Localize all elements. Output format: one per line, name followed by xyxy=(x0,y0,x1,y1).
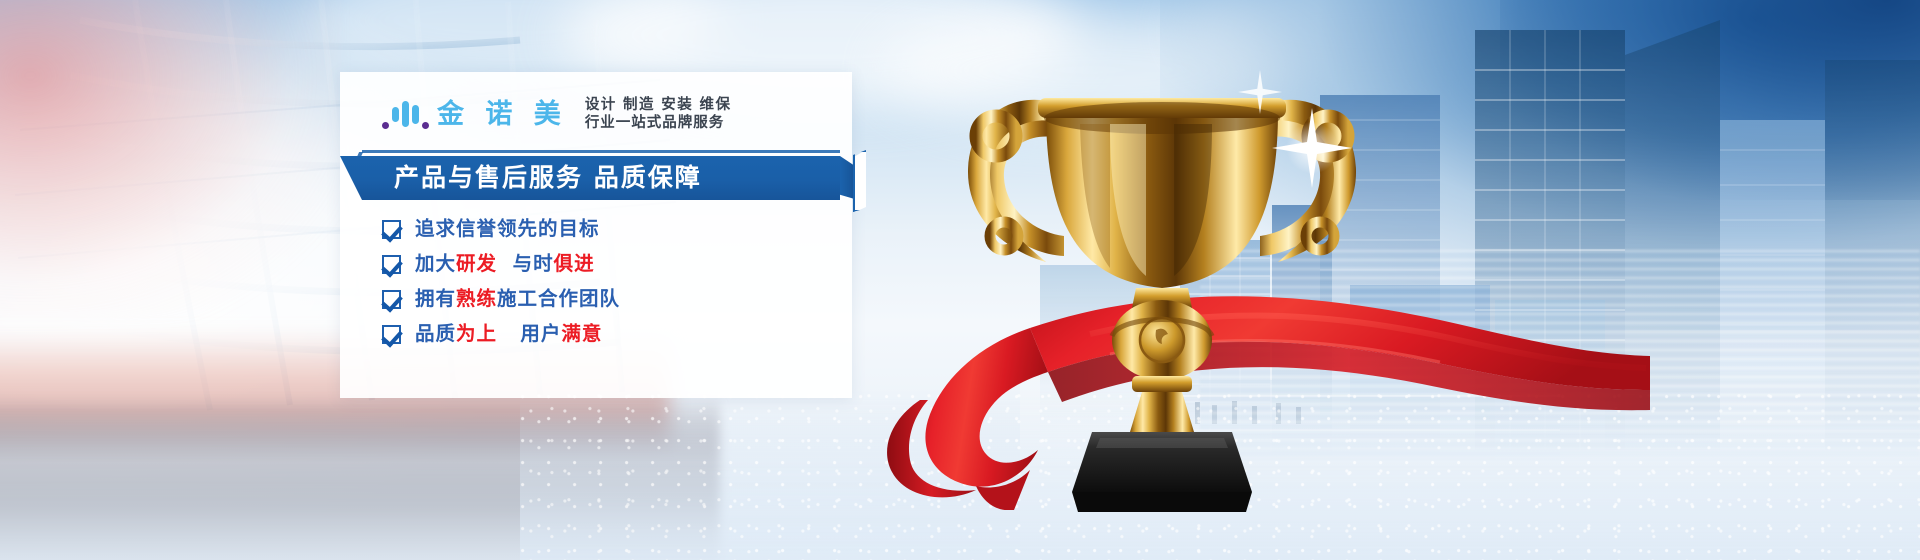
sound-wave-logo-icon xyxy=(382,97,429,131)
logo-dot-right xyxy=(422,122,429,129)
feature-text: 拥有熟练施工合作团队 xyxy=(415,289,620,309)
feature-text-segment: 加大 xyxy=(415,252,456,275)
logo-dot-left xyxy=(382,122,389,129)
brand-logo-row: 金 诺 美 设计 制造 安装 维保 行业一站式品牌服务 xyxy=(382,96,731,132)
headline-banner: 产品与售后服务 品质保障 xyxy=(340,156,840,200)
feature-text-segment: 与时 xyxy=(497,252,554,275)
feature-text-segment: 俱进 xyxy=(554,252,595,275)
checkbox-checked-icon xyxy=(382,220,401,239)
logo-bar-2 xyxy=(402,101,409,127)
list-item: 品质为上 用户满意 xyxy=(382,317,812,351)
banner-fold-outline xyxy=(853,150,866,212)
feature-list: 追求信誉领先的目标 加大研发 与时俱进 拥有熟练施工合作团队 品质为上 用户满意 xyxy=(382,212,812,352)
banner-stage: 金 诺 美 设计 制造 安装 维保 行业一站式品牌服务 追求信誉领先的目标 加大… xyxy=(0,0,1920,560)
brand-slogan-line-2: 行业一站式品牌服务 xyxy=(585,114,732,132)
banner-fold-tail xyxy=(840,150,866,212)
feature-text-segment: 满意 xyxy=(561,322,602,345)
feature-text-segment: 施工合作团队 xyxy=(497,287,620,310)
page-title: 产品与售后服务 品质保障 xyxy=(394,156,702,200)
feature-text-segment: 拥有 xyxy=(415,287,456,310)
feature-text: 品质为上 用户满意 xyxy=(415,324,602,344)
logo-bar-3 xyxy=(412,105,419,124)
list-item: 追求信誉领先的目标 xyxy=(382,212,812,246)
checkbox-checked-icon xyxy=(382,290,401,309)
feature-text-segment: 研发 xyxy=(456,252,497,275)
gold-trophy-icon xyxy=(960,40,1480,520)
checkbox-checked-icon xyxy=(382,255,401,274)
banner-top-hairline xyxy=(362,150,840,153)
feature-text-segment: 熟练 xyxy=(456,287,497,310)
feature-text: 加大研发 与时俱进 xyxy=(415,254,595,274)
feature-text-segment: 为上 xyxy=(456,322,497,345)
feature-text-segment: 追求信誉领先的目标 xyxy=(415,217,600,240)
checkbox-checked-icon xyxy=(382,325,401,344)
feature-text: 追求信誉领先的目标 xyxy=(415,219,600,239)
content-card: 金 诺 美 设计 制造 安装 维保 行业一站式品牌服务 追求信誉领先的目标 加大… xyxy=(340,72,852,398)
warm-tint-overlay xyxy=(0,0,340,320)
brand-slogan: 设计 制造 安装 维保 行业一站式品牌服务 xyxy=(585,96,732,132)
feature-text-segment: 品质 xyxy=(415,322,456,345)
brand-slogan-line-1: 设计 制造 安装 维保 xyxy=(585,96,732,114)
logo-bar-1 xyxy=(392,107,399,122)
list-item: 加大研发 与时俱进 xyxy=(382,247,812,281)
brand-name: 金 诺 美 xyxy=(437,101,567,128)
feature-text-segment: 用户 xyxy=(497,322,561,345)
list-item: 拥有熟练施工合作团队 xyxy=(382,282,812,316)
